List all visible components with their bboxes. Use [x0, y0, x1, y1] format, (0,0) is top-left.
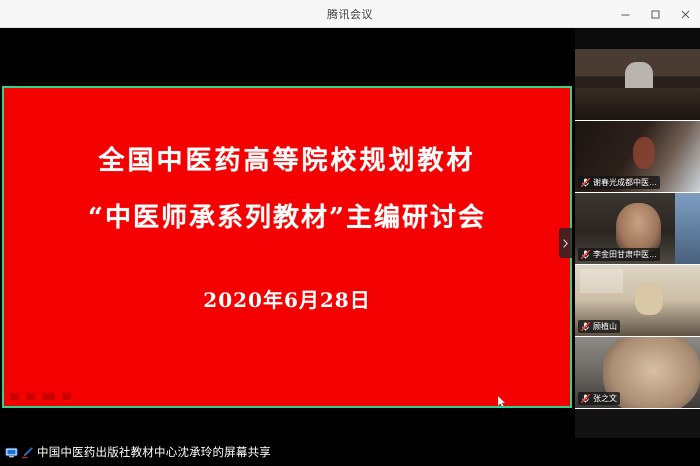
participant-tile[interactable]: 谢春光成都中医…: [575, 121, 700, 193]
mic-muted-icon: [580, 393, 591, 404]
minimize-icon: [620, 9, 631, 20]
close-button[interactable]: [670, 0, 700, 28]
participant-tile[interactable]: 顾植山: [575, 265, 700, 337]
participant-name: 谢春光成都中医…: [593, 177, 657, 188]
ppt-control-icon-1: [10, 393, 19, 400]
participant-name: 顾植山: [593, 321, 617, 332]
mic-muted-icon: [580, 177, 591, 188]
mic-muted-icon: [580, 321, 591, 332]
maximize-icon: [650, 9, 661, 20]
mic-muted-icon: [580, 249, 591, 260]
close-icon: [680, 9, 691, 20]
participant-name-badge: 吴勉华-南京中医…: [578, 104, 663, 117]
participant-name: 李金田甘肃中医…: [593, 249, 657, 260]
screen-share-icon[interactable]: [5, 446, 18, 459]
tencent-meeting-window: 腾讯会议 全国中医药高等院校规划教材 “中医: [0, 0, 700, 466]
participant-tile[interactable]: 张之文: [575, 337, 700, 409]
participant-name: 张之文: [593, 393, 617, 404]
participant-video-sidebar[interactable]: 吴勉华-南京中医… 谢春光成都中医…: [575, 28, 700, 438]
participant-name-badge: 顾植山: [578, 320, 620, 333]
participant-name: 吴勉华-南京中医…: [593, 105, 660, 116]
chevron-right-icon: [562, 238, 569, 249]
presentation-slide: 全国中医药高等院校规划教材 “中医师承系列教材”主编研讨会 2020年6月28日: [4, 88, 570, 406]
minimize-button[interactable]: [610, 0, 640, 28]
title-bar: 腾讯会议: [0, 0, 700, 28]
slide-date: 2020年6月28日: [203, 284, 370, 313]
sidebar-collapse-toggle[interactable]: [559, 228, 572, 258]
participant-name-badge: 李金田甘肃中医…: [578, 248, 660, 261]
maximize-button[interactable]: [640, 0, 670, 28]
slide-title-line2: “中医师承系列教材”主编研讨会: [88, 197, 486, 234]
participant-tile[interactable]: 李金田甘肃中医…: [575, 193, 700, 265]
ppt-control-icon-3: [42, 393, 55, 400]
sidebar-top-spacer: [575, 28, 700, 49]
screen-share-status-bar: 中国中医药出版社教材中心沈承玲的屏幕共享: [0, 438, 700, 466]
shared-screen-stage[interactable]: 全国中医药高等院校规划教材 “中医师承系列教材”主编研讨会 2020年6月28日: [0, 28, 575, 438]
window-controls: [610, 0, 700, 28]
marker-pen-icon[interactable]: [21, 446, 34, 459]
participant-name-badge: 张之文: [578, 392, 620, 405]
window-title: 腾讯会议: [327, 6, 373, 22]
participant-tile[interactable]: 吴勉华-南京中医…: [575, 49, 700, 121]
ppt-control-icon-4: [62, 393, 71, 400]
mouse-cursor-icon: [498, 396, 506, 407]
screen-share-frame: 全国中医药高等院校规划教材 “中医师承系列教材”主编研讨会 2020年6月28日: [2, 86, 572, 408]
participant-name-badge: 谢春光成都中医…: [578, 176, 660, 189]
slide-title-line1: 全国中医药高等院校规划教材: [98, 140, 475, 177]
powerpoint-view-controls[interactable]: [10, 393, 71, 400]
screen-share-status-text: 中国中医药出版社教材中心沈承玲的屏幕共享: [37, 444, 271, 460]
ppt-control-icon-2: [26, 393, 35, 400]
mic-muted-icon: [580, 105, 591, 116]
